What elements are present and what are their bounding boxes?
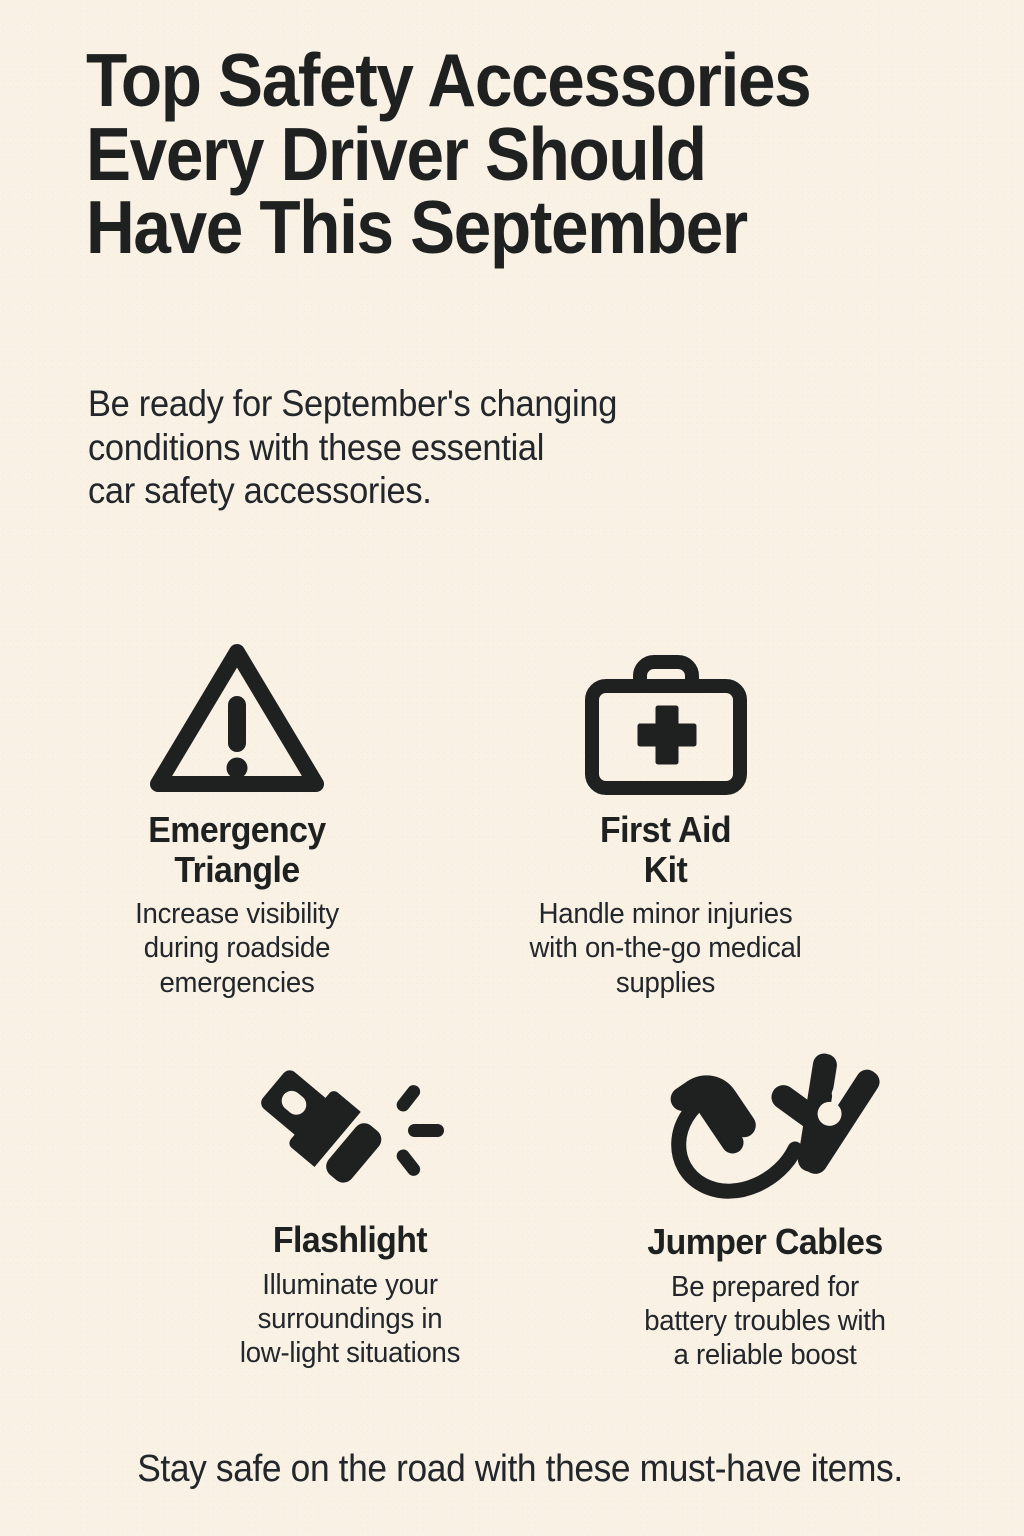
warning-triangle-icon [148,638,326,798]
icon-container [473,628,858,798]
card-emergency-triangle: Emergency Triangle Increase visibility d… [77,628,397,1000]
page-subtitle: Be ready for September's changing condit… [88,382,832,513]
jumper-cables-icon [653,1045,878,1210]
infographic-poster: Top Safety Accessories Every Driver Shou… [0,0,1024,1536]
card-flashlight: Flashlight Illuminate your surroundings … [190,1048,510,1370]
card-title: Emergency Triangle [87,810,388,889]
page-title: Top Safety Accessories Every Driver Shou… [86,44,869,265]
card-description: Handle minor injuries with on-the-go med… [483,897,849,1000]
card-description: Increase visibility during roadside emer… [85,897,389,1000]
icon-container [77,628,397,798]
icon-container [580,1040,950,1210]
card-description: Illuminate your surroundings in low-ligh… [198,1268,502,1371]
flashlight-icon [250,1053,450,1208]
card-title: First Aid Kit [485,810,847,889]
card-title: Jumper Cables [591,1222,939,1262]
first-aid-kit-icon [580,648,752,798]
card-description: Be prepared for battery troubles with a … [589,1270,941,1373]
icon-container [190,1048,510,1208]
card-title: Flashlight [200,1220,501,1260]
card-first-aid-kit: First Aid Kit Handle minor injuries with… [473,628,858,1000]
footer-note: Stay safe on the road with these must-ha… [92,1448,948,1492]
card-jumper-cables: Jumper Cables Be prepared for battery tr… [580,1040,950,1372]
